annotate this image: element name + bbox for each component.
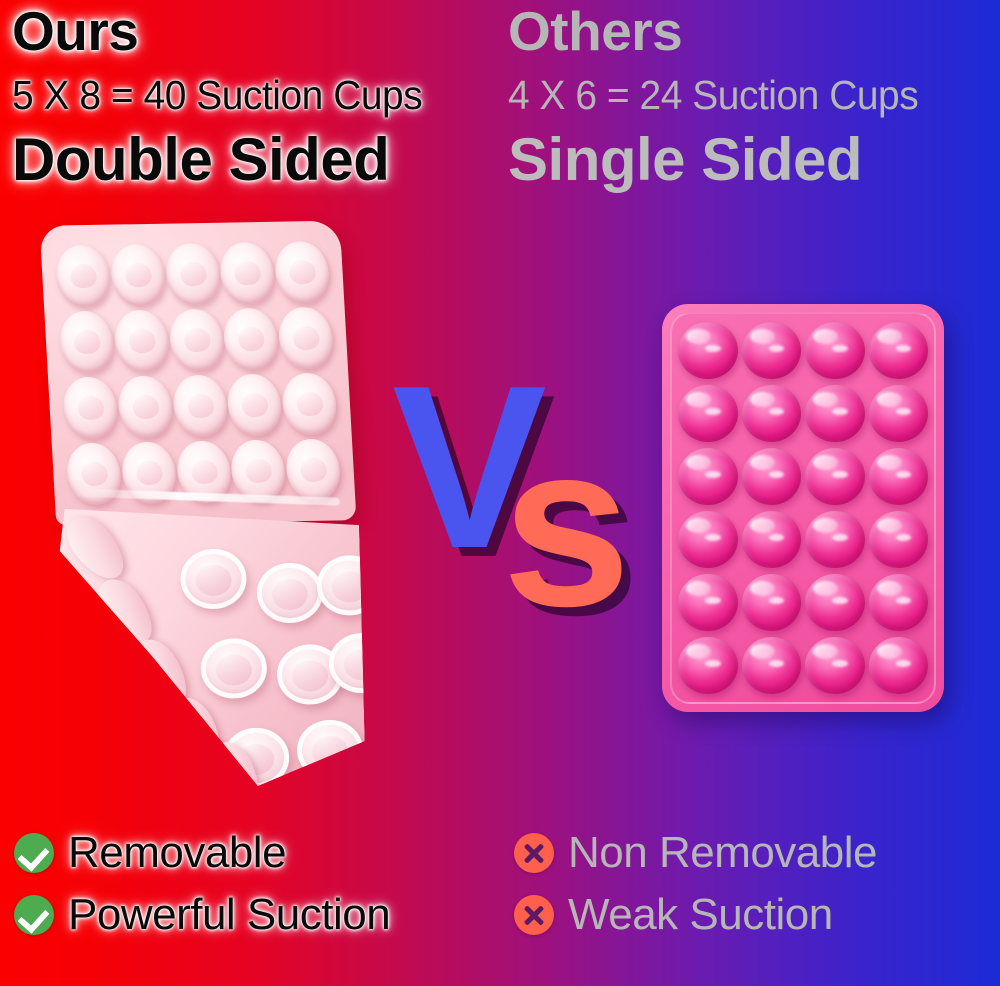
suction-cup xyxy=(52,242,114,310)
cross-circle-icon xyxy=(514,833,554,873)
suction-cup xyxy=(282,436,344,504)
suction-cup xyxy=(220,305,282,373)
suction-cup xyxy=(180,548,248,610)
suction-cup xyxy=(296,719,364,781)
suction-cup-dome xyxy=(805,637,865,694)
suction-cup xyxy=(161,240,223,308)
suction-cup-dome xyxy=(742,322,802,379)
suction-cup xyxy=(275,304,337,372)
suction-cup xyxy=(59,374,121,442)
suction-cup-dome xyxy=(678,574,738,631)
suction-cup xyxy=(110,307,172,375)
others-sided-label: Single Sided xyxy=(508,130,988,190)
suction-cup xyxy=(216,239,278,307)
suction-cup-dome xyxy=(869,637,929,694)
suction-cup xyxy=(114,373,176,441)
feature-label: Weak Suction xyxy=(568,893,833,937)
suction-cup-dome xyxy=(678,637,738,694)
feature-label: Non Removable xyxy=(568,831,877,875)
suction-cup-dome xyxy=(869,448,929,505)
comparison-infographic: Ours 5 X 8 = 40 Suction Cups Double Side… xyxy=(0,0,1000,986)
ours-sided-label: Double Sided xyxy=(12,130,482,190)
suction-cup-dome xyxy=(805,574,865,631)
suction-cup-edge xyxy=(125,631,197,713)
suction-cup-dome xyxy=(742,574,802,631)
suction-cup-dome xyxy=(869,322,929,379)
suction-cup xyxy=(165,306,227,374)
ours-text-column: Ours 5 X 8 = 40 Suction Cups Double Side… xyxy=(12,4,482,190)
suction-cup xyxy=(107,241,169,309)
suction-cup xyxy=(256,562,324,624)
suction-cup-dome xyxy=(678,448,738,505)
ours-product-image xyxy=(18,205,388,815)
suction-cup xyxy=(328,632,396,694)
suction-cup-dome xyxy=(678,322,738,379)
others-product-image xyxy=(662,304,944,712)
suction-cup-dome xyxy=(678,511,738,568)
suction-cup xyxy=(169,372,231,440)
suction-cup-dome xyxy=(805,385,865,442)
others-text-column: Others 4 X 6 = 24 Suction Cups Single Si… xyxy=(508,4,988,190)
versus-badge: V s xyxy=(392,352,622,642)
suction-cup xyxy=(200,638,268,700)
suction-cup-dome xyxy=(869,511,929,568)
ours-headline: Ours xyxy=(12,4,482,59)
suction-cup xyxy=(271,238,333,306)
list-item: Weak Suction xyxy=(514,884,877,946)
suction-cup-dome xyxy=(805,511,865,568)
pad-dome-grid xyxy=(676,320,930,696)
suction-cup-dome xyxy=(678,385,738,442)
suction-cup xyxy=(55,308,117,376)
suction-cup-dome xyxy=(805,448,865,505)
pad-front-cup-grid xyxy=(40,221,357,526)
suction-cup-dome xyxy=(742,385,802,442)
feature-label: Powerful Suction xyxy=(68,893,390,937)
cross-circle-icon xyxy=(514,895,554,935)
others-suction-cup-count: 4 X 6 = 24 Suction Cups xyxy=(508,75,964,116)
check-circle-icon xyxy=(14,895,54,935)
suction-cup-dome xyxy=(742,448,802,505)
suction-cup-edge xyxy=(57,508,134,589)
list-item: Removable xyxy=(14,822,390,884)
suction-cup xyxy=(316,555,384,617)
ours-feature-list: Removable Powerful Suction xyxy=(14,822,390,946)
suction-cup-dome xyxy=(742,637,802,694)
list-item: Non Removable xyxy=(514,822,877,884)
suction-cup-dome xyxy=(742,511,802,568)
others-feature-list: Non Removable Weak Suction xyxy=(514,822,877,946)
suction-cup-dome xyxy=(869,385,929,442)
suction-cup xyxy=(224,371,286,439)
feature-label: Removable xyxy=(68,831,286,875)
suction-cup xyxy=(278,370,340,438)
pad-back-cup-grid xyxy=(58,483,366,791)
ours-suction-cup-count: 5 X 8 = 40 Suction Cups xyxy=(12,75,459,116)
suction-cup-dome xyxy=(805,322,865,379)
versus-letter-s: s xyxy=(502,410,621,642)
check-circle-icon xyxy=(14,833,54,873)
suction-cup-edge xyxy=(162,690,231,772)
others-headline: Others xyxy=(508,4,988,59)
list-item: Powerful Suction xyxy=(14,884,390,946)
suction-cup-dome xyxy=(869,574,929,631)
